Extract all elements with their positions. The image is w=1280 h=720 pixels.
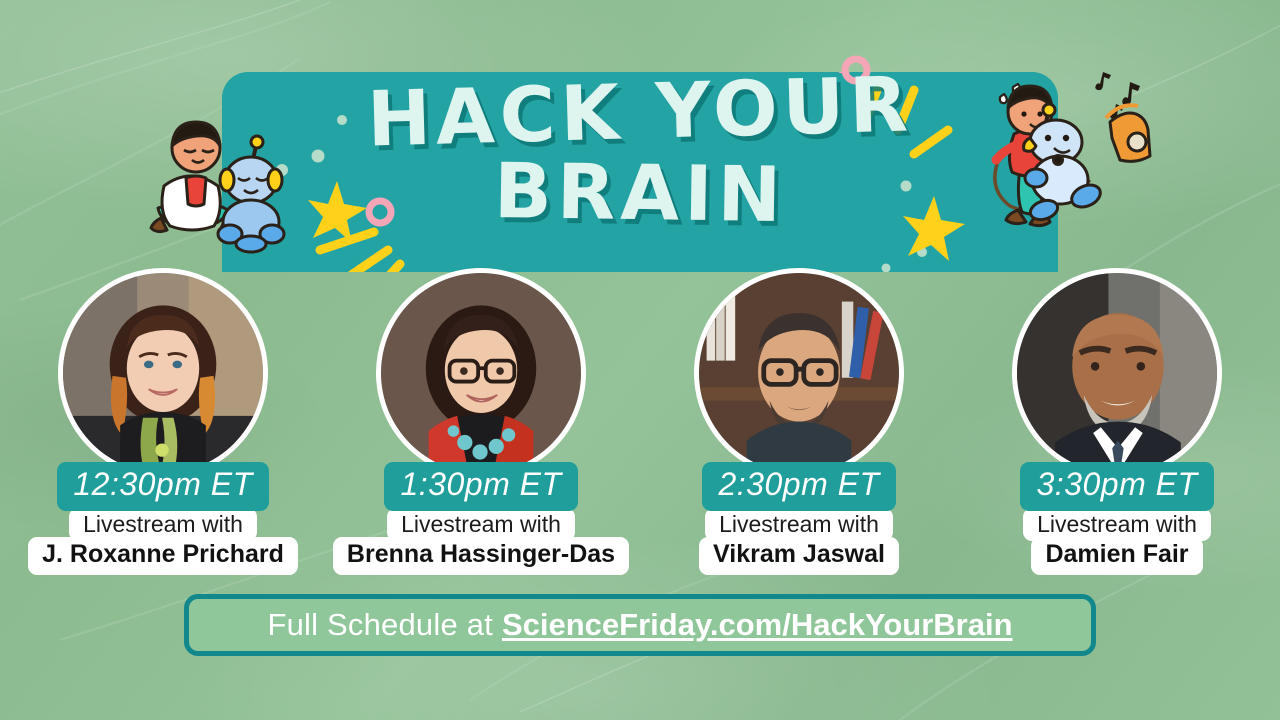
livestream-label: Livestream with	[69, 508, 257, 542]
avatar	[58, 268, 268, 478]
time-badge: 12:30pm ET	[57, 462, 268, 511]
cta-url-link[interactable]: ScienceFriday.com/HackYourBrain	[502, 607, 1013, 643]
ring-decoration-above-panel	[836, 50, 876, 90]
avatar	[1012, 268, 1222, 478]
speaker-name: Damien Fair	[1031, 537, 1202, 575]
avatar	[376, 268, 586, 478]
speaker-card: 3:30pm ET Livestream with Damien Fair	[973, 268, 1261, 575]
ring-decoration-left	[369, 201, 391, 223]
child-jumping-rope-with-robot-illustration	[982, 70, 1160, 232]
time-badge: 3:30pm ET	[1020, 462, 1213, 511]
speaker-name: J. Roxanne Prichard	[28, 537, 298, 575]
full-schedule-cta[interactable]: Full Schedule at ScienceFriday.com/HackY…	[184, 594, 1096, 656]
livestream-label: Livestream with	[387, 508, 575, 542]
cta-prefix: Full Schedule at	[267, 607, 493, 643]
speaker-card: 1:30pm ET Livestream with Brenna Hassing…	[337, 268, 625, 575]
time-badge: 1:30pm ET	[384, 462, 577, 511]
panel-doodle-decorations	[222, 72, 1058, 272]
speaker-card: 12:30pm ET Livestream with J. Roxanne Pr…	[19, 268, 307, 575]
livestream-label: Livestream with	[1023, 508, 1211, 542]
dash-decorations-left	[320, 232, 400, 272]
poster-root: HACK YOUR BRAIN	[0, 0, 1280, 720]
avatar	[694, 268, 904, 478]
speaker-card: 2:30pm ET Livestream with Vikram Jaswal	[655, 268, 943, 575]
dot-decorations	[276, 115, 927, 272]
speaker-name: Brenna Hassinger-Das	[333, 537, 629, 575]
time-badge: 2:30pm ET	[702, 462, 895, 511]
title-panel	[222, 72, 1058, 272]
child-meditating-with-robot-illustration	[132, 106, 290, 266]
livestream-label: Livestream with	[705, 508, 893, 542]
speakers-row: 12:30pm ET Livestream with J. Roxanne Pr…	[0, 268, 1280, 575]
star-icon-right	[903, 196, 965, 261]
portrait-brenna-hassinger-das	[381, 273, 581, 473]
dash-decorations-right	[866, 82, 948, 154]
speaker-name: Vikram Jaswal	[699, 537, 899, 575]
portrait-vikram-jaswal	[699, 273, 899, 473]
portrait-damien-fair	[1017, 273, 1217, 473]
portrait-roxanne-prichard	[63, 273, 263, 473]
